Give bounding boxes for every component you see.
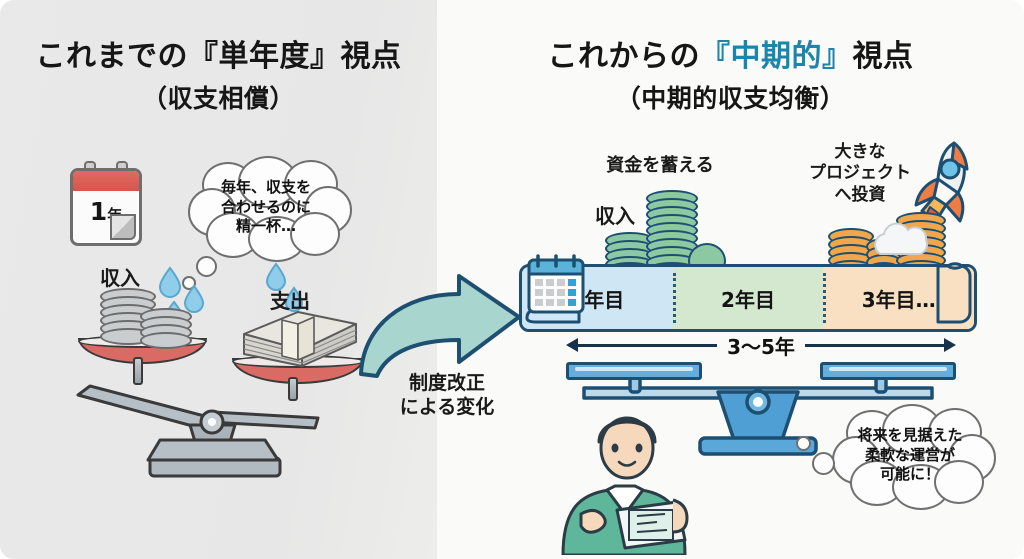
- change-arrow-icon: [355, 270, 525, 380]
- income-coin-stack-short: [140, 308, 192, 346]
- right-panel-title: これからの『中期的』視点 （中期的収支均衡）: [437, 38, 1024, 118]
- right-title-accent: 『中期的』: [700, 39, 853, 74]
- person-illustration: [545, 390, 705, 555]
- change-label: 制度改正 による変化: [367, 372, 527, 420]
- left-panel-title: これまでの『単年度』視点 （収支相償）: [0, 38, 437, 118]
- timeline-calendar-icon: [521, 252, 591, 326]
- right-title-before: これからの: [548, 39, 701, 74]
- span-line-left: [578, 344, 717, 347]
- smoke-puff: [868, 218, 938, 264]
- left-title-main: これまでの『単年度』視点: [36, 39, 402, 74]
- span-label: 3〜5年: [717, 331, 805, 360]
- left-thought-bubble: 毎年、収支を 合わせるのに 精一杯…: [186, 160, 346, 255]
- span-arrow-right-head: [944, 338, 956, 352]
- calendar-header-bar: [73, 171, 139, 191]
- right-thought-bubble: 将来を見据えた 柔軟な運営が 可能に！: [830, 408, 990, 503]
- right-bubble-text: 将来を見据えた 柔軟な運営が 可能に！: [857, 426, 962, 485]
- span-line-right: [805, 344, 944, 347]
- calendar-body: 1年: [70, 168, 142, 246]
- timeline-segment-year2[interactable]: 2年目: [673, 267, 824, 329]
- span-arrow-left-head: [566, 338, 578, 352]
- right-bubble-dot-small: [796, 436, 811, 451]
- timeline-rolled-end: [934, 252, 974, 326]
- balanced-pan-right: [820, 362, 956, 380]
- balanced-pan-left: [566, 362, 702, 380]
- save-funds-label: 資金を蓄える: [580, 155, 740, 178]
- right-bubble-dot-large: [812, 452, 835, 475]
- banknote-stack: [236, 306, 364, 368]
- left-title-sub: （収支相償）: [0, 80, 437, 118]
- calendar-one-year-icon: 1年: [70, 168, 142, 246]
- timeline-span-arrow: 3〜5年: [566, 332, 956, 358]
- right-title-after: 視点: [853, 39, 914, 74]
- left-bubble-text: 毎年、収支を 合わせるのに 精一杯…: [221, 178, 311, 237]
- calendar-folded-corner: [110, 214, 136, 240]
- infographic-canvas: これまでの『単年度』視点 （収支相償） これからの『中期的』視点 （中期的収支均…: [0, 0, 1024, 559]
- right-title-sub: （中期的収支均衡）: [437, 80, 1024, 118]
- right-income-label: 収入: [580, 204, 650, 229]
